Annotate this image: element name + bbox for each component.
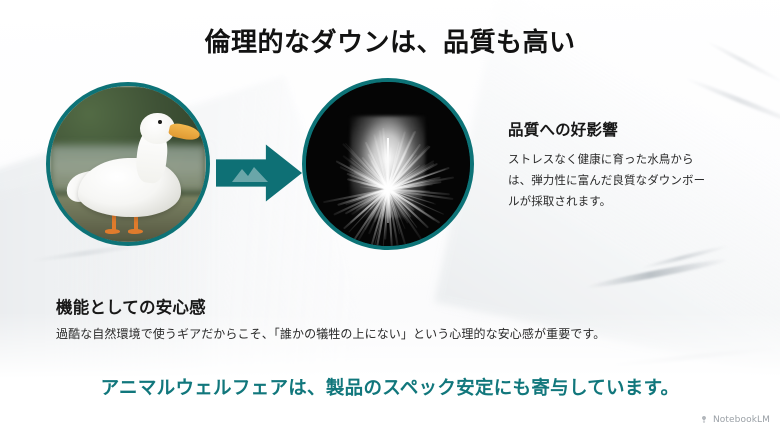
mountain-peak-icon [230,164,270,184]
notebooklm-icon [699,415,709,425]
safety-heading: 機能としての安心感 [56,294,726,318]
impact-section: 品質への好影響 ストレスなく健康に育った水鳥からは、弾力性に富んだ良質なダウンボ… [508,118,708,212]
duck-body [78,158,181,217]
page-title: 倫理的なダウンは、品質も高い [0,22,780,59]
notebooklm-watermark: NotebookLM [699,415,770,425]
safety-body: 過酷な自然環境で使うギアだからこそ、「誰かの犠牲の上にない」という心理的な安心感… [56,325,726,343]
safety-section: 機能としての安心感 過酷な自然環境で使うギアだからこそ、「誰かの犠牲の上にない」… [56,294,726,343]
conclusion-statement: アニマルウェルフェアは、製品のスペック安定にも寄与しています。 [0,374,780,400]
impact-heading: 品質への好影響 [508,118,708,140]
down-ball-photo [302,78,474,250]
duck-scene [50,86,206,242]
impact-body: ストレスなく健康に育った水鳥からは、弾力性に富んだ良質なダウンボールが採取されま… [508,149,708,212]
duck-eye [158,120,162,124]
transform-arrow [216,142,302,204]
slide-canvas: 倫理的なダウンは、品質も高い [0,0,780,432]
down-scene [306,82,470,246]
white-duck-photo [46,82,210,246]
watermark-label: NotebookLM [713,415,770,425]
